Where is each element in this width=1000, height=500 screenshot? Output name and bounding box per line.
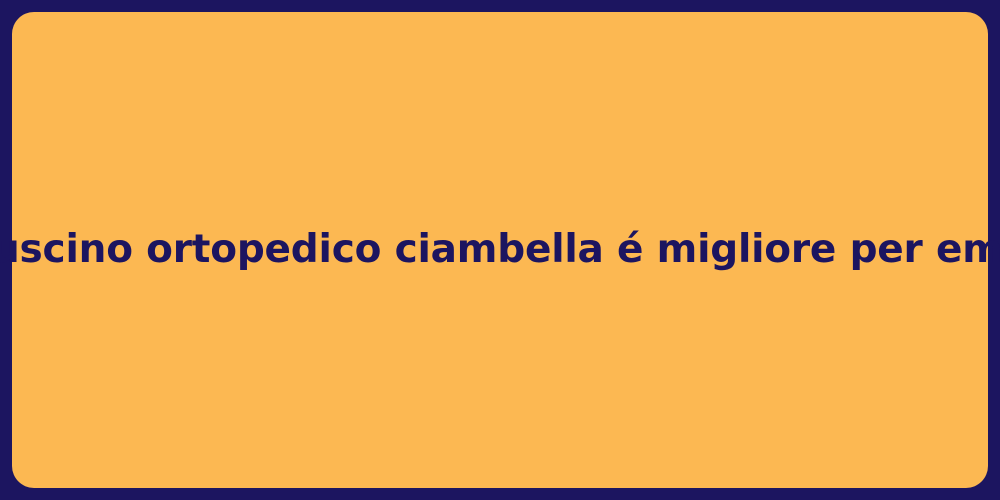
banner-headline: Quale cuscino ortopedico ciambella é mig… <box>0 227 1000 273</box>
banner-frame: Quale cuscino ortopedico ciambella é mig… <box>0 0 1000 500</box>
banner-card: Quale cuscino ortopedico ciambella é mig… <box>12 12 988 488</box>
